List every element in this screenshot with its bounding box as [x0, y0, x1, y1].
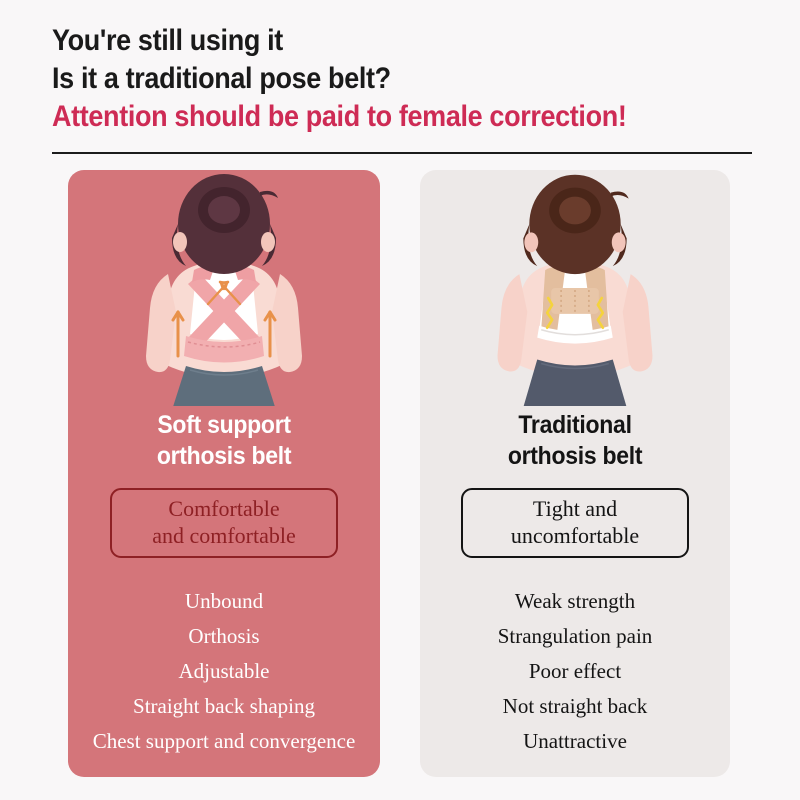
list-item: Poor effect — [420, 654, 730, 689]
card-left-title: Soft support orthosis belt — [157, 410, 291, 472]
card-soft-support-belt[interactable]: Soft support orthosis belt Comfortable a… — [68, 170, 380, 777]
headline-block: You're still using it Is it a traditiona… — [52, 22, 752, 136]
list-item: Strangulation pain — [420, 619, 730, 654]
headline-line-3-accent: Attention should be paid to female corre… — [52, 98, 682, 136]
list-item: Straight back shaping — [68, 689, 380, 724]
card-right-title-line-2: orthosis belt — [508, 442, 642, 470]
card-left-title-line-1: Soft support — [157, 411, 290, 439]
card-traditional-belt[interactable]: Traditional orthosis belt Tight and unco… — [420, 170, 730, 777]
woman-back-view-soft-support-belt-illustration — [68, 170, 380, 406]
card-left-badge: Comfortable and comfortable — [110, 488, 338, 558]
list-item: Not straight back — [420, 689, 730, 724]
card-right-badge-line-2: uncomfortable — [511, 523, 639, 548]
list-item: Orthosis — [68, 619, 380, 654]
list-item: Adjustable — [68, 654, 380, 689]
card-left-title-line-2: orthosis belt — [157, 442, 291, 470]
card-right-badge: Tight and uncomfortable — [461, 488, 689, 558]
list-item: Unbound — [68, 584, 380, 619]
headline-divider — [52, 152, 752, 154]
comparison-cards: Soft support orthosis belt Comfortable a… — [0, 170, 800, 777]
headline-line-2: Is it a traditional pose belt? — [52, 60, 682, 98]
list-item: Chest support and convergence — [68, 724, 380, 759]
card-right-title-line-1: Traditional — [518, 411, 631, 439]
headline-line-1: You're still using it — [52, 22, 682, 60]
list-item: Weak strength — [420, 584, 730, 619]
card-left-badge-line-1: Comfortable — [168, 496, 279, 521]
card-right-title: Traditional orthosis belt — [508, 410, 642, 472]
woman-back-view-traditional-belt-illustration — [420, 170, 730, 406]
card-right-feature-list: Weak strength Strangulation pain Poor ef… — [420, 584, 730, 759]
card-left-feature-list: Unbound Orthosis Adjustable Straight bac… — [68, 584, 380, 759]
card-right-badge-line-1: Tight and — [533, 496, 617, 521]
list-item: Unattractive — [420, 724, 730, 759]
card-left-badge-line-2: and comfortable — [152, 523, 296, 548]
